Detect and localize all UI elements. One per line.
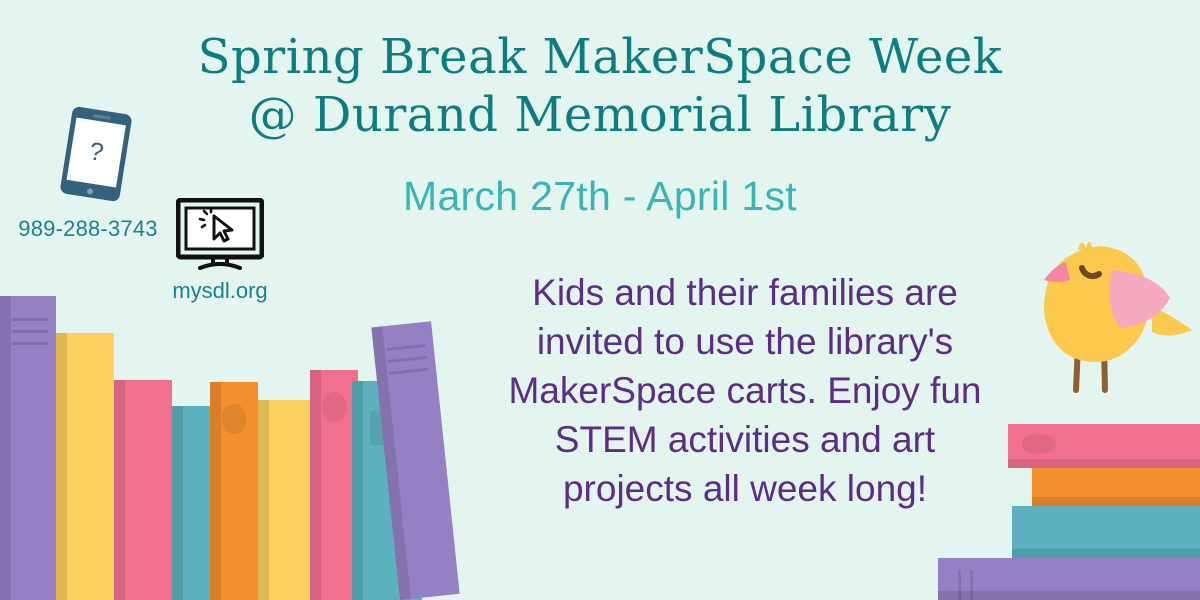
book-spine-shadow xyxy=(310,370,321,600)
book-spine-shadow xyxy=(114,380,125,600)
smartphone-question-icon: ? xyxy=(59,106,132,202)
headline-line-2: @ Durand Memorial Library xyxy=(190,86,1010,144)
stacked-book xyxy=(938,558,1200,600)
page-title: Spring Break MakerSpace Week @ Durand Me… xyxy=(190,28,1010,144)
book-edge-shadow xyxy=(1012,549,1200,558)
book-decoration xyxy=(1022,434,1056,454)
book-spine-shadow xyxy=(0,296,11,600)
bird-svg xyxy=(1004,228,1200,428)
book-spine-shadow xyxy=(258,400,269,600)
book-decoration xyxy=(12,318,48,354)
book-decoration xyxy=(958,570,982,600)
poster-canvas: ? 989-288-3743 mysdl.org Spring Break Ma… xyxy=(0,0,1200,600)
book-spine-shadow xyxy=(210,382,221,600)
shelf-book xyxy=(56,333,114,600)
book-decoration xyxy=(387,344,429,384)
shelf-book xyxy=(210,382,258,600)
shelf-book xyxy=(0,296,56,600)
book-edge-shadow xyxy=(1008,459,1200,468)
body-text: Kids and their families are invited to u… xyxy=(490,268,1000,513)
stacked-book xyxy=(1012,506,1200,558)
yellow-bird-icon xyxy=(1004,228,1200,428)
shelf-book xyxy=(114,380,172,600)
book-spine-shadow xyxy=(56,333,67,600)
shelf-book xyxy=(172,406,210,600)
book-spine-shadow xyxy=(172,406,183,600)
stacked-book xyxy=(1008,424,1200,468)
website-url: mysdl.org xyxy=(145,278,295,304)
bird-beak xyxy=(1044,262,1070,282)
phone-number: 989-288-3743 xyxy=(8,216,168,242)
book-edge-shadow xyxy=(1032,497,1200,506)
headline-line-1: Spring Break MakerSpace Week xyxy=(198,29,1003,85)
stacked-book xyxy=(1032,468,1200,506)
book-decoration xyxy=(222,404,247,434)
shelf-book xyxy=(310,370,358,600)
shelf-book xyxy=(258,400,310,600)
book-decoration xyxy=(322,392,347,422)
phone-screen: ? xyxy=(67,117,126,187)
book-spine-shadow xyxy=(352,381,363,600)
date-range: March 27th - April 1st xyxy=(190,172,1010,220)
question-mark-glyph: ? xyxy=(87,139,105,166)
